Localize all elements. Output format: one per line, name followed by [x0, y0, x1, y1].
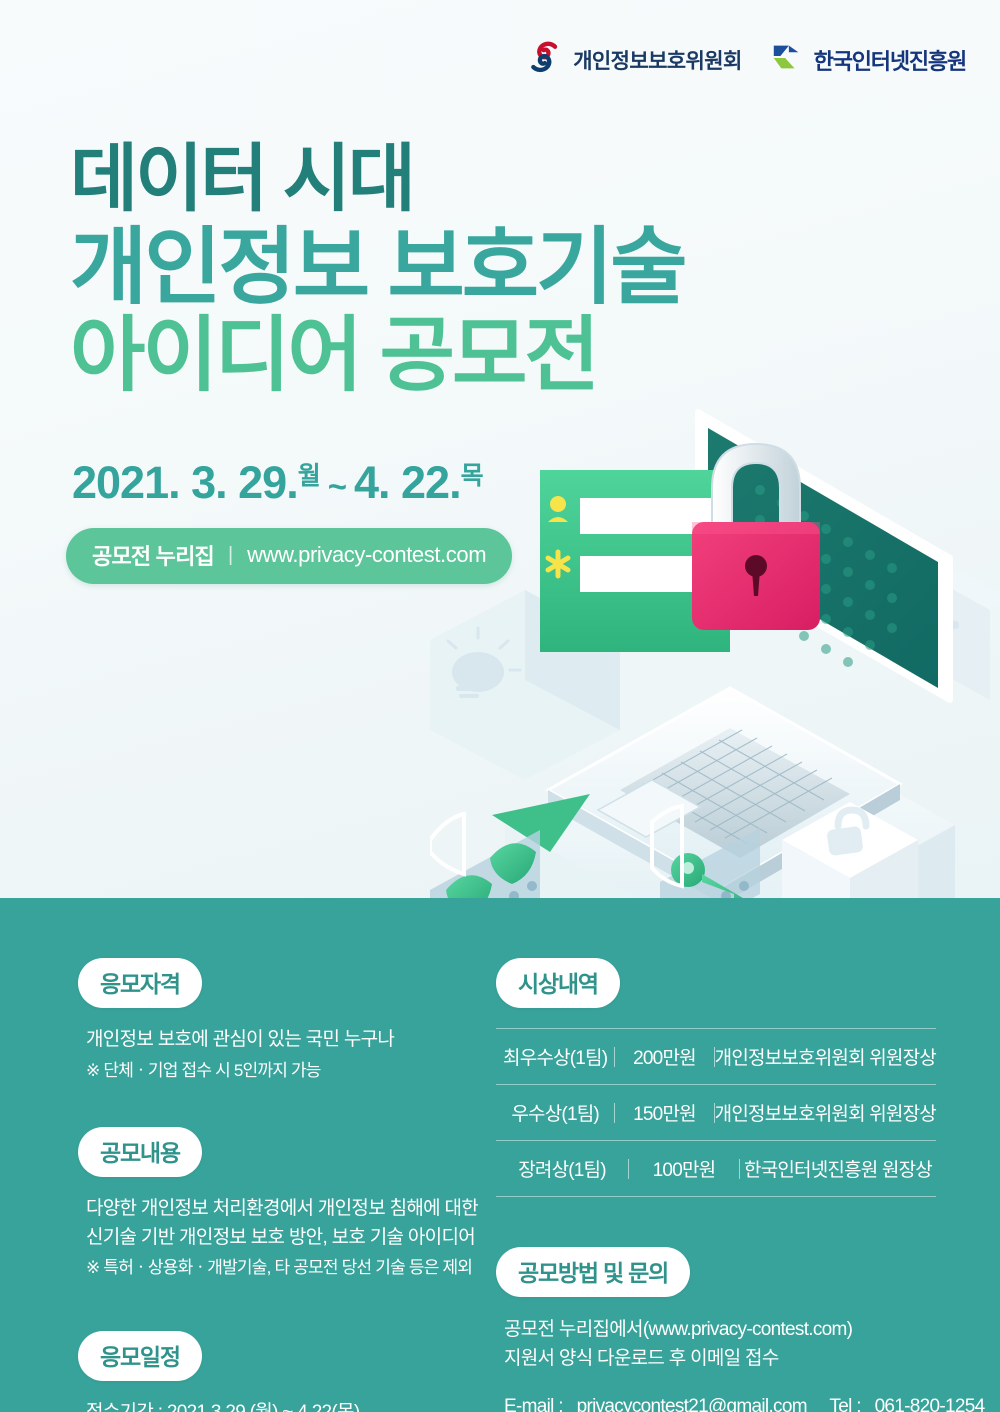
security-illustration	[430, 370, 1000, 898]
contest-website-label: 공모전 누리집	[92, 539, 214, 571]
title-line-1: 데이터 시대	[70, 143, 685, 216]
date-start: 2021. 3. 29.	[72, 457, 298, 509]
section-schedule-heading: 응모일정	[78, 1331, 202, 1381]
poster-title: 데이터 시대 개인정보 보호기술 아이디어 공모전	[70, 143, 685, 396]
award-amount: 200만원	[615, 1043, 714, 1070]
award-certificate: 한국인터넷진흥원 원장상	[740, 1155, 936, 1182]
section-topic: 공모내용 다양한 개인정보 처리환경에서 개인정보 침해에 대한 신기술 기반 …	[78, 1127, 478, 1281]
date-start-dow: 월	[298, 456, 320, 492]
award-certificate: 개인정보보호위원회 위원장상	[715, 1043, 936, 1070]
schedule-line-1: 접수기간 : 2021.3.29.(월) ~ 4.22(목)	[86, 1399, 478, 1412]
section-howto-heading: 공모방법 및 문의	[496, 1247, 690, 1297]
award-certificate: 개인정보보호위원회 위원장상	[715, 1099, 936, 1126]
table-row: 우수상(1팀) 150만원 개인정보보호위원회 위원장상	[496, 1084, 936, 1140]
eligibility-line-1: 개인정보 보호에 관심이 있는 국민 누구나	[86, 1026, 478, 1055]
info-column-left: 응모자격 개인정보 보호에 관심이 있는 국민 누구나 ※ 단체ㆍ기업 접수 시…	[78, 958, 478, 1412]
logo-kisa-label: 한국인터넷진흥원	[814, 44, 966, 76]
howto-line-1: 공모전 누리집에서(www.privacy-contest.com)	[504, 1315, 936, 1344]
section-howto-body: 공모전 누리집에서(www.privacy-contest.com) 지원서 양…	[496, 1315, 936, 1412]
logo-kisa: 한국인터넷진흥원	[770, 40, 966, 79]
logo-pipc-label: 개인정보보호위원회	[573, 45, 741, 75]
email-label: E-mail :	[504, 1396, 563, 1412]
kisa-arrow-mark-icon	[770, 40, 804, 79]
award-prize: 장려상(1팀)	[496, 1155, 628, 1182]
contact-line: E-mail : privacycontest21@gmail.com Tel …	[504, 1392, 936, 1412]
poster-top-section: 개인정보보호위원회 한국인터넷진흥원 데이터 시대 개인정보 보호기술 아이디어…	[0, 0, 1000, 898]
info-column-right: 시상내역 최우수상(1팀) 200만원 개인정보보호위원회 위원장상 우수상(1…	[496, 958, 936, 1412]
table-row: 장려상(1팀) 100만원 한국인터넷진흥원 원장상	[496, 1140, 936, 1197]
poster-root: 개인정보보호위원회 한국인터넷진흥원 데이터 시대 개인정보 보호기술 아이디어…	[0, 0, 1000, 1412]
pill-separator: |	[228, 544, 233, 567]
section-eligibility: 응모자격 개인정보 보호에 관심이 있는 국민 누구나 ※ 단체ㆍ기업 접수 시…	[78, 958, 478, 1083]
tel-label: Tel :	[829, 1396, 860, 1412]
award-amount: 100만원	[629, 1155, 739, 1182]
section-topic-heading: 공모내용	[78, 1127, 202, 1177]
section-eligibility-body: 개인정보 보호에 관심이 있는 국민 누구나 ※ 단체ㆍ기업 접수 시 5인까지…	[78, 1026, 478, 1083]
eligibility-note: ※ 단체ㆍ기업 접수 시 5인까지 가능	[86, 1058, 478, 1084]
logo-bar: 개인정보보호위원회 한국인터넷진흥원	[525, 38, 966, 81]
section-schedule: 응모일정 접수기간 : 2021.3.29.(월) ~ 4.22(목) 결과발표…	[78, 1331, 478, 1412]
tel-value: 061-820-1254	[875, 1396, 985, 1412]
section-eligibility-heading: 응모자격	[78, 958, 202, 1008]
section-schedule-body: 접수기간 : 2021.3.29.(월) ~ 4.22(목) 결과발표 : 20…	[78, 1399, 478, 1412]
date-tilde: ~	[328, 468, 346, 506]
poster-info-panel: 응모자격 개인정보 보호에 관심이 있는 국민 누구나 ※ 단체ㆍ기업 접수 시…	[0, 898, 1000, 1412]
topic-note: ※ 특허ㆍ상용화ㆍ개발기술, 타 공모전 당선 기술 등은 제외	[86, 1255, 478, 1281]
topic-line-1: 다양한 개인정보 처리환경에서 개인정보 침해에 대한	[86, 1195, 478, 1224]
taegeuk-emblem-icon	[525, 38, 563, 81]
table-row: 최우수상(1팀) 200만원 개인정보보호위원회 위원장상	[496, 1028, 936, 1084]
award-amount: 150만원	[615, 1099, 714, 1126]
award-prize: 최우수상(1팀)	[496, 1043, 614, 1070]
awards-table: 최우수상(1팀) 200만원 개인정보보호위원회 위원장상 우수상(1팀) 15…	[496, 1028, 936, 1197]
section-awards-heading: 시상내역	[496, 958, 620, 1008]
event-date: 2021. 3. 29. 월 ~ 4. 22. 목	[72, 457, 483, 509]
title-line-2: 개인정보 보호기술	[70, 226, 685, 308]
award-prize: 우수상(1팀)	[496, 1099, 614, 1126]
section-awards: 시상내역 최우수상(1팀) 200만원 개인정보보호위원회 위원장상 우수상(1…	[496, 958, 936, 1197]
howto-line-2: 지원서 양식 다운로드 후 이메일 접수	[504, 1344, 936, 1373]
topic-line-2: 신기술 기반 개인정보 보호 방안, 보호 기술 아이디어	[86, 1224, 478, 1253]
logo-pipc: 개인정보보호위원회	[525, 38, 741, 81]
section-topic-body: 다양한 개인정보 처리환경에서 개인정보 침해에 대한 신기술 기반 개인정보 …	[78, 1195, 478, 1281]
section-howto: 공모방법 및 문의 공모전 누리집에서(www.privacy-contest.…	[496, 1247, 936, 1412]
email-value[interactable]: privacycontest21@gmail.com	[577, 1396, 807, 1412]
